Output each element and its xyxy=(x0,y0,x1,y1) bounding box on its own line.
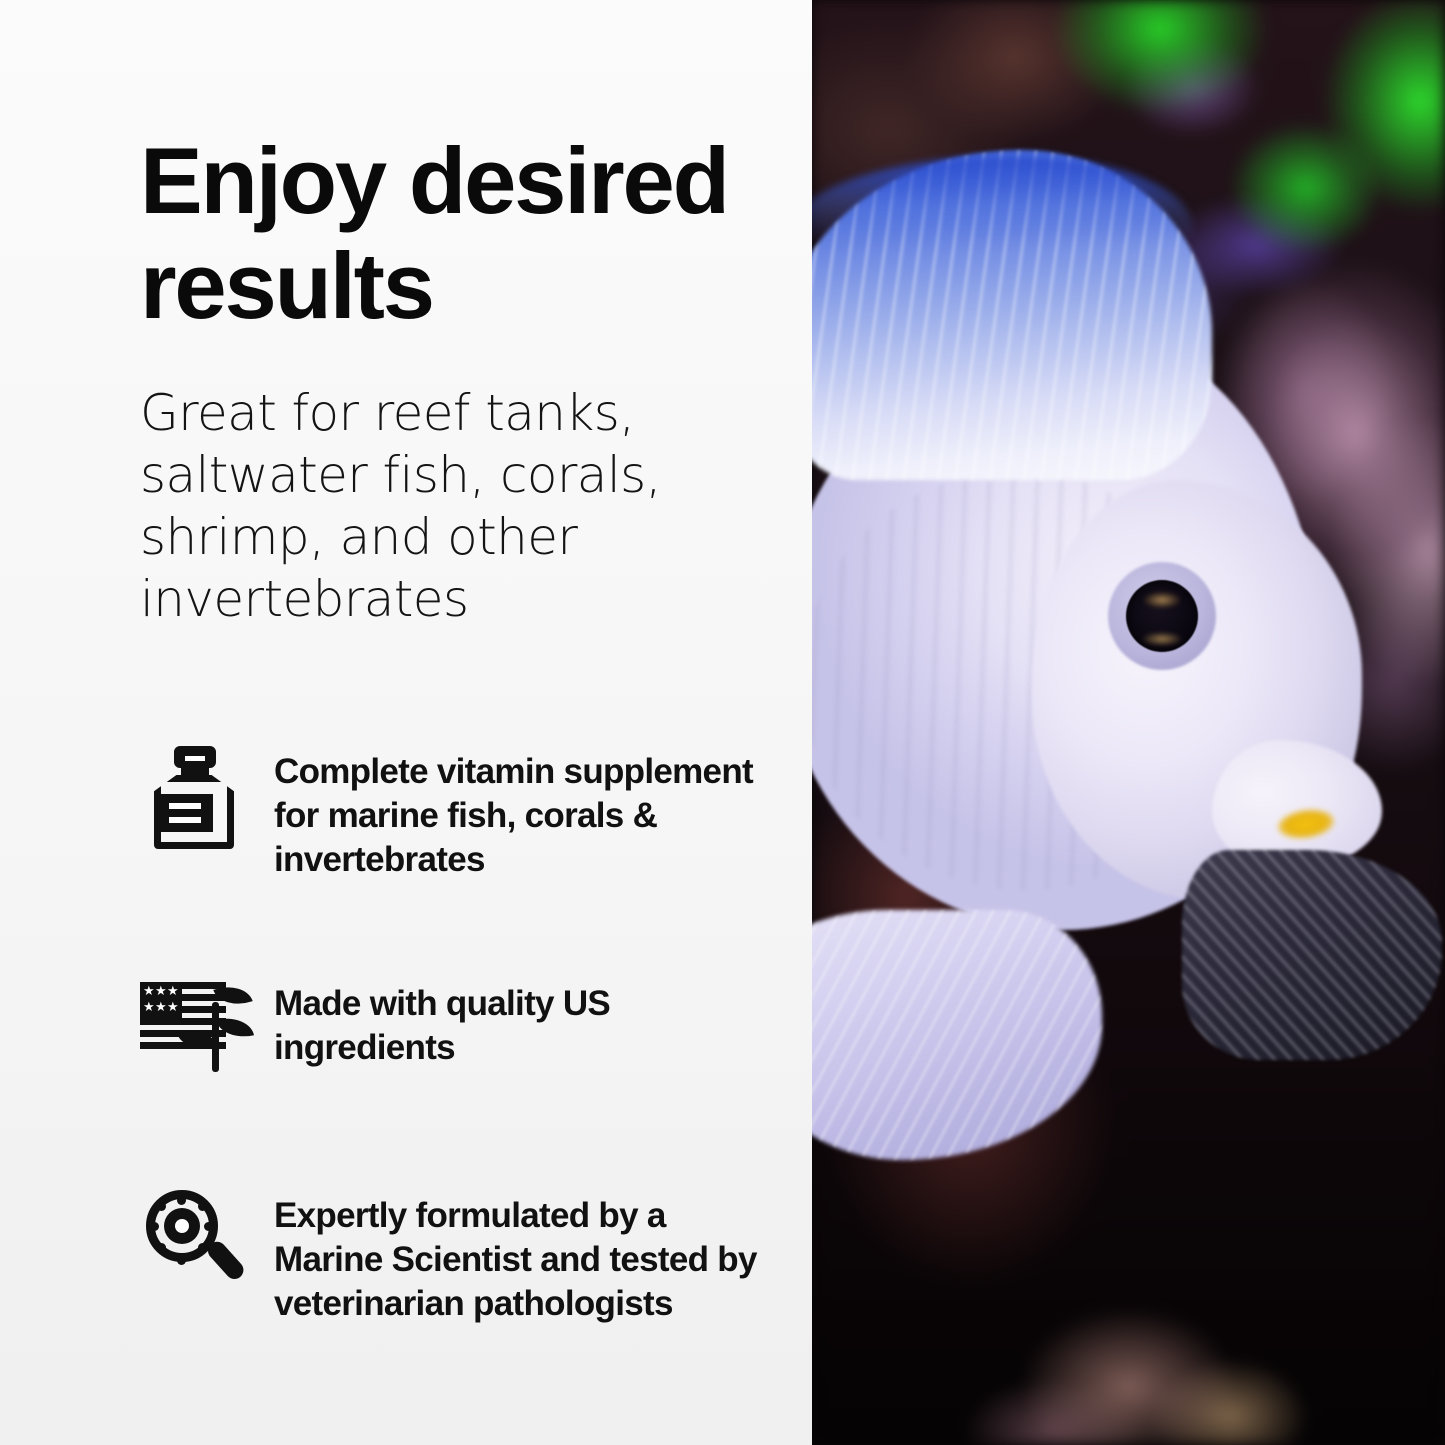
feature-item-supplement: Complete vitamin supplement for marine f… xyxy=(140,742,774,882)
subheading: Great for reef tanks, saltwater fish, co… xyxy=(140,382,750,630)
dorsal-fin-edge xyxy=(812,156,1192,246)
tang-fish xyxy=(812,150,1402,1030)
product-feature-panel: Enjoy desired results Great for reef tan… xyxy=(0,0,1445,1445)
feature-item-us-ingredients: ★ ★ ★ ★ ★ ★ Made with quality US ingr xyxy=(140,970,774,1078)
feature-label: Expertly formulated by a Marine Scientis… xyxy=(274,1184,774,1326)
fish-eye-highlight xyxy=(1144,592,1180,608)
headline-line-1: Enjoy desired xyxy=(140,128,800,233)
feature-label: Made with quality US ingredients xyxy=(274,970,774,1070)
feature-item-expert-formulation: Expertly formulated by a Marine Scientis… xyxy=(140,1184,774,1326)
usa-flag-plant-icon: ★ ★ ★ ★ ★ ★ xyxy=(140,970,252,1078)
fish-eye-highlight-lower xyxy=(1142,632,1182,646)
headline-line-2: results xyxy=(140,233,800,338)
page-title: Enjoy desired results xyxy=(140,128,800,339)
supplement-bottle-icon xyxy=(140,742,252,850)
product-photo xyxy=(812,0,1445,1445)
pectoral-fin xyxy=(1182,850,1442,1060)
content-panel: Enjoy desired results Great for reef tan… xyxy=(0,0,812,1445)
feature-label: Complete vitamin supplement for marine f… xyxy=(274,742,774,882)
magnifier-microbe-icon xyxy=(140,1184,252,1292)
